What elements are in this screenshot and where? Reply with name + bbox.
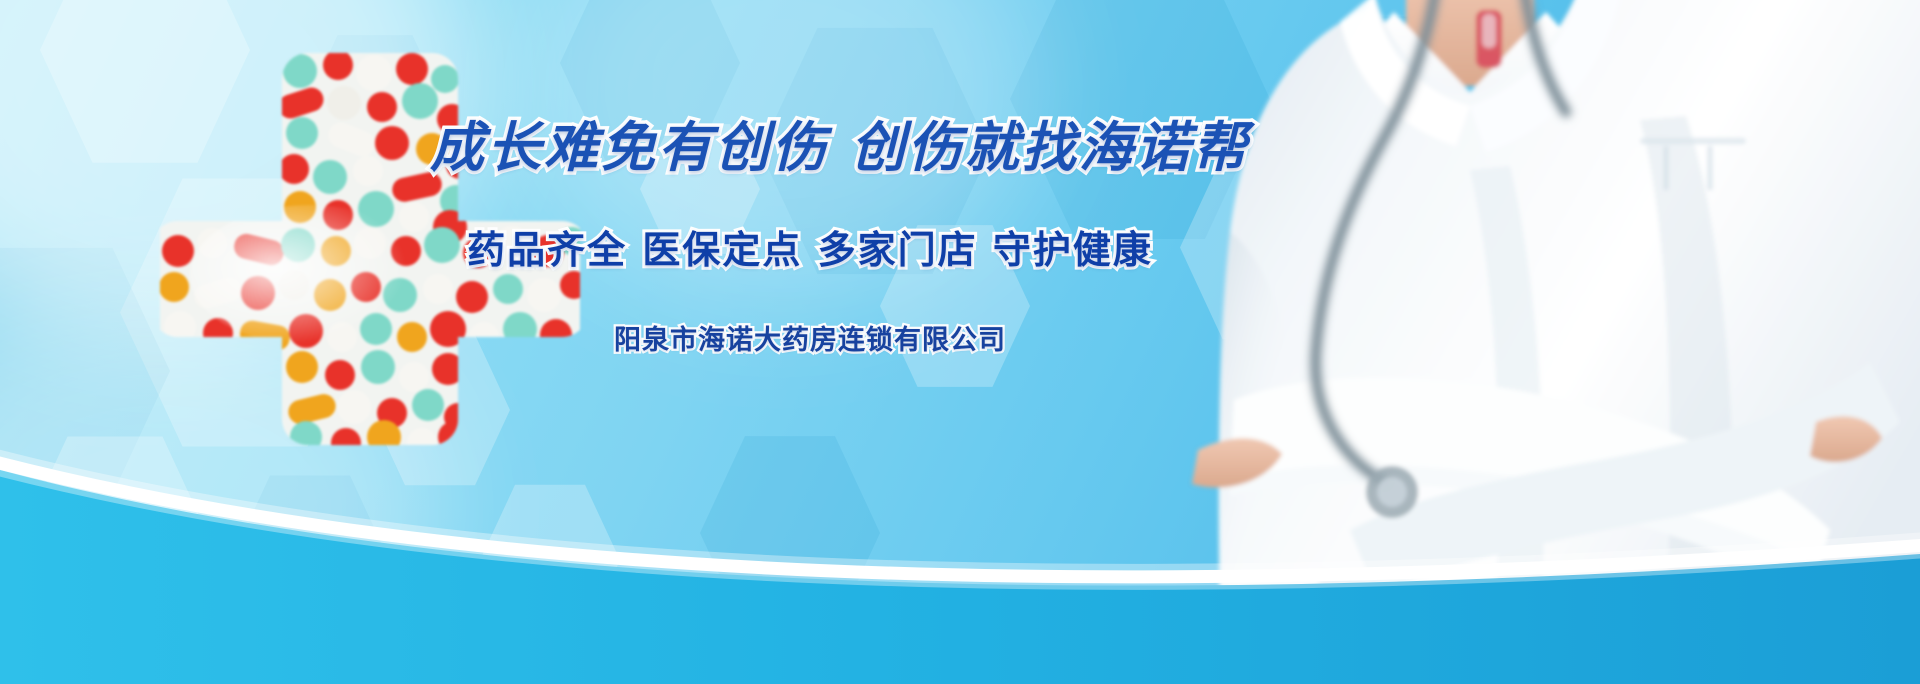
pharmacy-banner: 成长难免有创伤 创伤就找海诺帮 药品齐全 医保定点 多家门店 守护健康 阳泉市海… — [0, 0, 1920, 684]
banner-copy: 成长难免有创伤 创伤就找海诺帮 药品齐全 医保定点 多家门店 守护健康 阳泉市海… — [430, 120, 1190, 357]
company-name: 阳泉市海诺大药房连锁有限公司 — [430, 318, 1190, 357]
banner-subline: 药品齐全 医保定点 多家门店 守护健康 — [430, 219, 1190, 274]
white-swoosh-divider — [0, 404, 1920, 684]
banner-headline: 成长难免有创伤 创伤就找海诺帮 — [430, 120, 1190, 177]
